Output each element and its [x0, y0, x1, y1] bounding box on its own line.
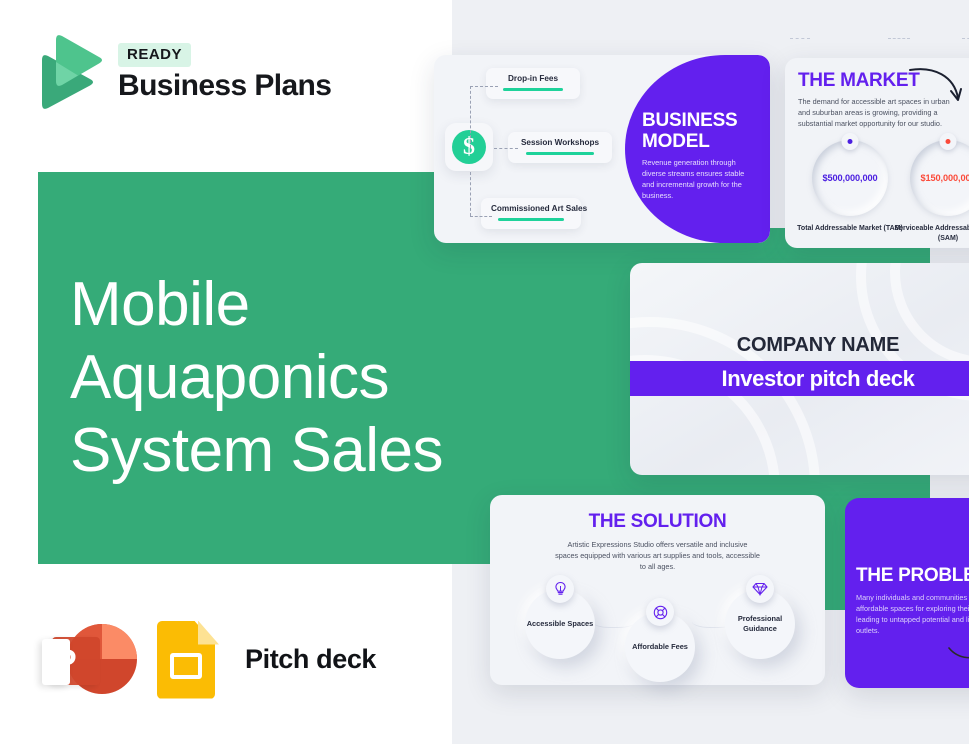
powerpoint-letter: P — [54, 642, 77, 682]
logo-svg — [38, 34, 102, 110]
curved-arrow-icon — [908, 64, 966, 115]
connector-line-top-h — [470, 86, 498, 87]
business-model-item[interactable]: Drop-in Fees — [486, 68, 580, 99]
problem-body: Many individuals and communities lack ac… — [856, 592, 969, 636]
lightbulb-icon — [546, 575, 574, 603]
market-metric-dot-holder — [842, 133, 859, 150]
solution-node[interactable]: Affordable Fees — [625, 612, 695, 682]
market-metric-value: $150,000,000 — [920, 173, 969, 183]
market-dash-right — [962, 38, 969, 39]
powerpoint-icon[interactable]: P — [40, 617, 135, 702]
market-dash-left — [790, 38, 810, 39]
slides-fold-corner — [198, 621, 219, 645]
solution-node-bubble: Accessible Spaces — [525, 589, 595, 659]
problem-title: THE PROBLEM — [856, 565, 969, 587]
swoosh-icon — [948, 645, 969, 670]
market-title: THE MARKET — [798, 70, 920, 92]
business-model-item-label: Drop-in Fees — [496, 74, 570, 83]
market-metric-dot — [848, 139, 853, 144]
brand-logo[interactable]: READY Business Plans — [38, 34, 331, 110]
formats-label: Pitch deck — [245, 644, 376, 675]
dollar-sign-icon: $ — [452, 130, 486, 164]
solution-node[interactable]: Accessible Spaces — [525, 589, 595, 659]
brand-name: Business Plans — [118, 70, 331, 102]
solution-node-label: Professional Guidance — [725, 614, 795, 634]
diamond-icon — [746, 575, 774, 603]
google-slides-icon[interactable] — [157, 621, 219, 699]
promo-thumbnail: READY Business Plans Mobile Aquaponics S… — [0, 0, 969, 744]
dollar-sign-card: $ — [445, 123, 493, 171]
solution-node-bubble: Affordable Fees — [625, 612, 695, 682]
ready-badge: READY — [118, 43, 191, 67]
connector-line-bottom — [470, 172, 471, 216]
market-metric-dot — [946, 139, 951, 144]
business-model-item[interactable]: Commissioned Art Sales — [481, 198, 581, 229]
slides-inner-frame — [170, 653, 202, 679]
business-model-item-bar — [526, 152, 595, 155]
company-name-band: Investor pitch deck — [630, 361, 969, 396]
market-metric-circle: $500,000,000 — [812, 140, 888, 216]
business-model-item-bar — [503, 88, 564, 91]
market-metric-circle: $150,000,000 — [910, 140, 969, 216]
connector-line-middle — [494, 148, 518, 149]
market-metric: $500,000,000 Total Addressable Market (T… — [812, 140, 888, 216]
solution-node-bubble: Professional Guidance — [725, 589, 795, 659]
solution-node-label: Accessible Spaces — [527, 619, 594, 629]
business-model-item-bar — [498, 218, 564, 221]
double-play-triangle-logo — [38, 34, 102, 110]
market-metric-value: $500,000,000 — [822, 173, 877, 183]
company-name-title: COMPANY NAME — [630, 334, 969, 357]
market-metric-caption: Serviceable Addressable Market (SAM) — [893, 224, 969, 244]
dollar-glyph: $ — [463, 134, 475, 160]
market-metric-caption: Total Addressable Market (TAM) — [795, 224, 905, 234]
page-title: Mobile Aquaponics System Sales — [70, 268, 550, 487]
lifebuoy-icon — [646, 598, 674, 626]
market-metric: $150,000,000 Serviceable Addressable Mar… — [910, 140, 969, 216]
solution-node-label: Affordable Fees — [632, 642, 688, 652]
business-model-item-label: Commissioned Art Sales — [491, 204, 571, 213]
brand-wordmark: READY Business Plans — [118, 43, 331, 102]
connector-line-top — [470, 86, 471, 148]
solution-node[interactable]: Professional Guidance — [725, 589, 795, 659]
format-badges: P Pitch deck — [40, 617, 376, 702]
market-metric-dot-holder — [940, 133, 957, 150]
connector-line-bottom-h — [470, 216, 492, 217]
solution-title: THE SOLUTION — [490, 511, 825, 533]
business-model-item-label: Session Workshops — [518, 138, 602, 147]
solution-body: Artistic Expressions Studio offers versa… — [555, 539, 760, 572]
business-model-title: BUSINESS MODEL — [642, 110, 760, 152]
market-dash-mid — [888, 38, 910, 39]
business-model-item[interactable]: Session Workshops — [508, 132, 612, 163]
company-name-subtitle: Investor pitch deck — [722, 366, 915, 392]
business-model-body: Revenue generation through diverse strea… — [642, 157, 758, 201]
